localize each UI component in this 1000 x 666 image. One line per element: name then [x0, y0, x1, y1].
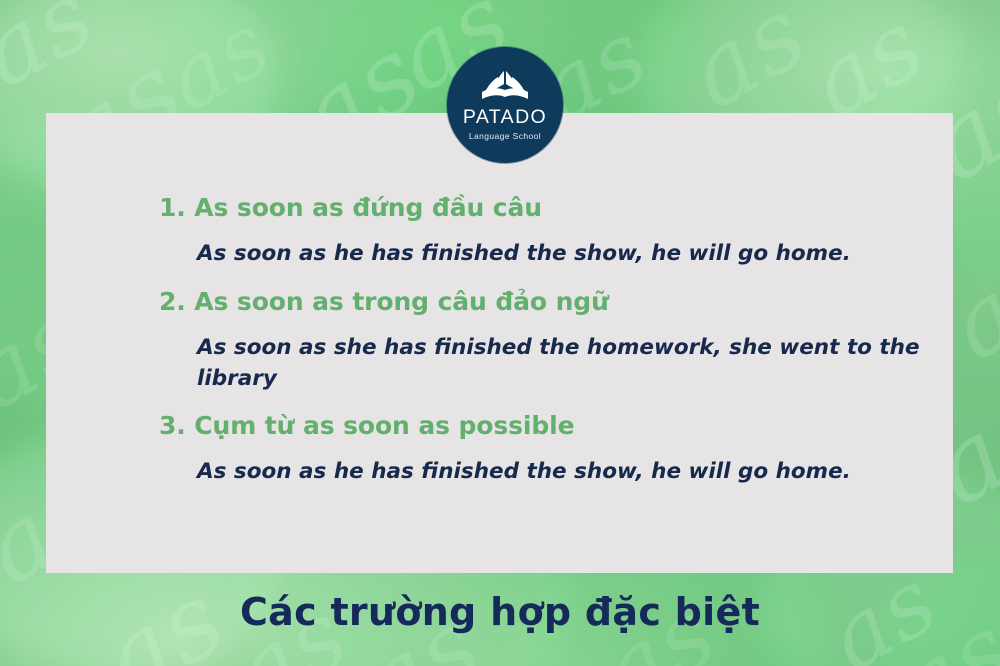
patado-logo-badge: PATADO Language School	[447, 47, 563, 163]
logo-subtitle: Language School	[469, 132, 541, 141]
lesson-example-2: As soon as she has finished the homework…	[197, 333, 949, 394]
lesson-item: 3. Cụm từ as soon as possible As soon as…	[159, 410, 949, 488]
lesson-item: 1. As soon as đứng đầu câu As soon as he…	[159, 192, 949, 270]
lesson-example-3: As soon as he has finished the show, he …	[197, 457, 949, 488]
lesson-heading-2: 2. As soon as trong câu đảo ngữ	[159, 286, 949, 317]
bottom-caption: Các trường hợp đặc biệt	[0, 592, 1000, 634]
lesson-example-1: As soon as he has finished the show, he …	[197, 239, 949, 270]
lesson-heading-1: 1. As soon as đứng đầu câu	[159, 192, 949, 223]
lesson-list: 1. As soon as đứng đầu câu As soon as he…	[159, 192, 949, 504]
lesson-item: 2. As soon as trong câu đảo ngữ As soon …	[159, 286, 949, 394]
open-book-sails-icon	[475, 66, 535, 104]
content-panel: 1. As soon as đứng đầu câu As soon as he…	[46, 113, 953, 573]
lesson-heading-3: 3. Cụm từ as soon as possible	[159, 410, 949, 441]
logo-title: PATADO	[463, 108, 547, 128]
poster-canvas: asasasasasasasasasasasasasasasasasasas 1…	[0, 0, 1000, 666]
